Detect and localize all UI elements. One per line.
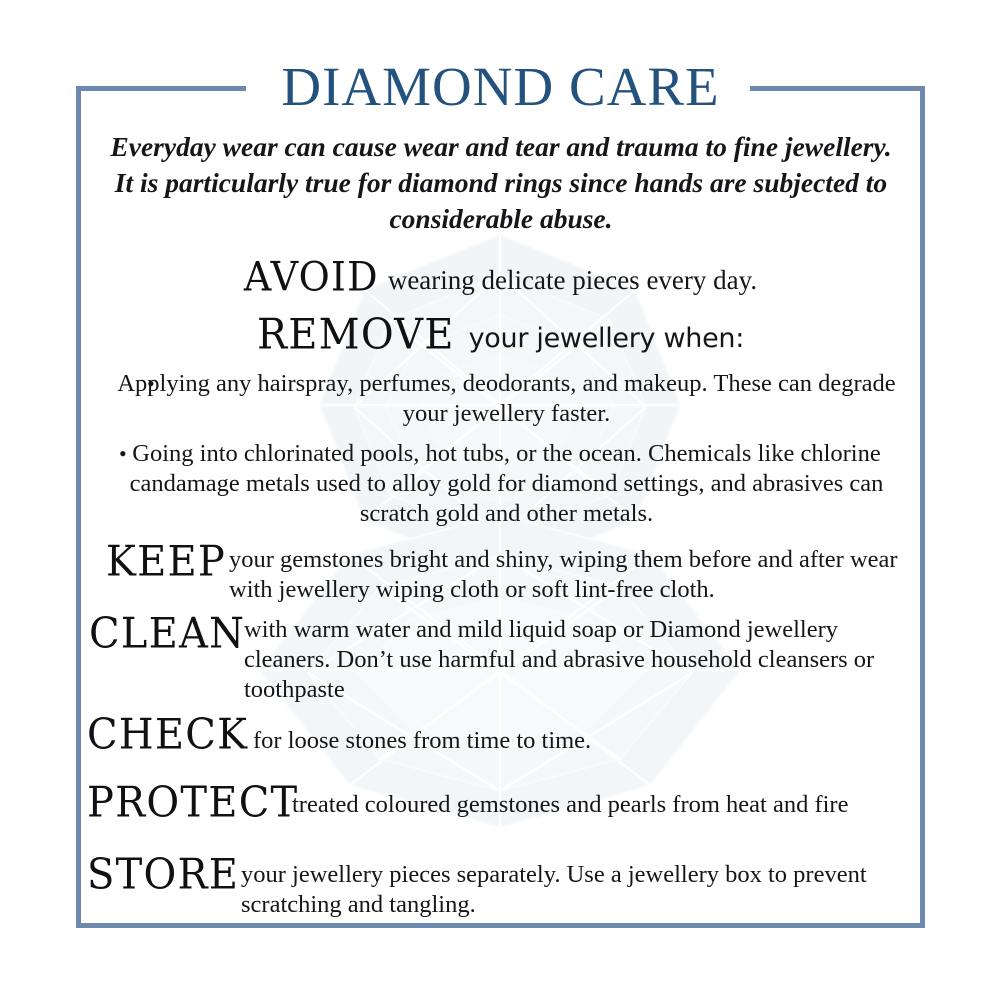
avoid-body: wearing delicate pieces every day. (379, 265, 757, 295)
frame-border-right (920, 86, 925, 928)
protect-body: treated coloured gemstones and pearls fr… (292, 790, 902, 820)
remove-bullet-list: • Applying any hairspray, perfumes, deod… (81, 369, 920, 539)
remove-body: your jewellery when: (455, 323, 744, 354)
check-keyword: CHECK (87, 711, 248, 758)
protect-keyword: PROTECT (87, 779, 298, 826)
store-keyword: STORE (87, 851, 239, 898)
bullet-dot-icon: • (147, 369, 155, 399)
frame-border-bottom (76, 923, 925, 928)
keep-keyword: KEEP (106, 538, 226, 585)
keep-body: your gemstones bright and shiny, wiping … (229, 545, 909, 605)
list-item-text: Going into chlorinated pools, hot tubs, … (130, 440, 884, 527)
remove-row: REMOVEyour jewellery when: (81, 313, 920, 359)
intro-paragraph: Everyday wear can cause wear and tear an… (101, 129, 901, 237)
clean-body: with warm water and mild liquid soap or … (244, 615, 916, 705)
bullet-dot-icon: • (119, 439, 127, 469)
list-item: • Going into chlorinated pools, hot tubs… (81, 439, 920, 529)
page-title: DIAMOND CARE (81, 57, 920, 117)
card-content: DIAMOND CARE Everyday wear can cause wea… (81, 91, 920, 923)
avoid-keyword: AVOID (244, 253, 379, 300)
remove-keyword: REMOVE (257, 310, 455, 359)
store-body: your jewellery pieces separately. Use a … (241, 860, 901, 920)
list-item: • Applying any hairspray, perfumes, deod… (81, 369, 920, 429)
check-body: for loose stones from time to time. (253, 726, 903, 756)
list-item-text: Applying any hairspray, perfumes, deodor… (117, 370, 895, 427)
avoid-row: AVOIDwearing delicate pieces every day. (81, 256, 920, 300)
clean-keyword: CLEAN (89, 610, 245, 657)
diamond-care-card: DIAMOND CARE Everyday wear can cause wea… (0, 0, 1000, 1000)
